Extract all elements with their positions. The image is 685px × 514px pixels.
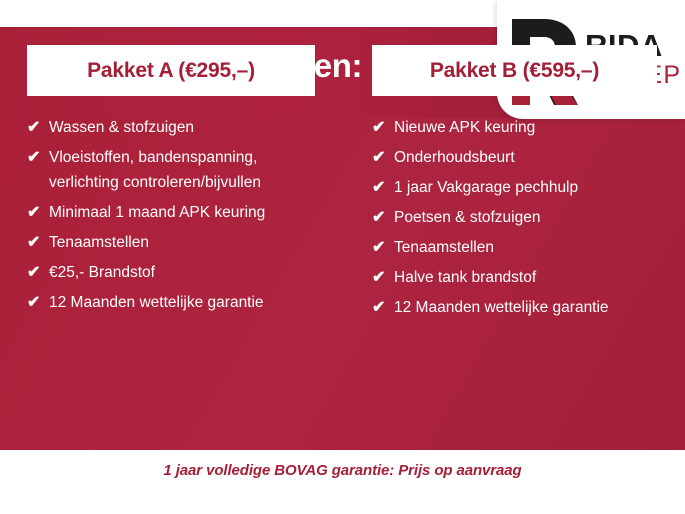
list-item: ✔ Nieuwe APK keuring	[372, 115, 657, 140]
footer-guarantee-text: 1 jaar volledige BOVAG garantie: Prijs o…	[163, 462, 521, 479]
list-item: ✔ Poetsen & stofzuigen	[372, 205, 657, 230]
list-item-label: 12 Maanden wettelijke garantie	[394, 295, 657, 320]
check-icon: ✔	[372, 205, 394, 230]
package-a-header: Pakket A (€295,–)	[27, 45, 315, 96]
list-item: ✔ 12 Maanden wettelijke garantie	[372, 295, 657, 320]
list-item: ✔ Vloeistoffen, bandenspanning, verlicht…	[27, 145, 315, 195]
list-item-label: Minimaal 1 maand APK keuring	[49, 200, 315, 225]
footer-banner: 1 jaar volledige BOVAG garantie: Prijs o…	[0, 450, 685, 514]
list-item-label: Halve tank brandstof	[394, 265, 657, 290]
afleverpakket-poster: Afleverpakket kiezen: RIDA GROEP Pakket …	[0, 0, 685, 514]
package-a-title: Pakket A (€295,–)	[87, 59, 255, 83]
list-item: ✔ €25,- Brandstof	[27, 260, 315, 285]
check-icon: ✔	[27, 145, 49, 170]
check-icon: ✔	[27, 200, 49, 225]
list-item: ✔ Wassen & stofzuigen	[27, 115, 315, 140]
check-icon: ✔	[372, 115, 394, 140]
list-item-label: Nieuwe APK keuring	[394, 115, 657, 140]
package-card-a: Pakket A (€295,–) ✔ Wassen & stofzuigen …	[27, 45, 315, 320]
list-item-label: 12 Maanden wettelijke garantie	[49, 290, 315, 315]
check-icon: ✔	[27, 260, 49, 285]
list-item-label: Tenaamstellen	[394, 235, 657, 260]
check-icon: ✔	[27, 290, 49, 315]
package-b-header: Pakket B (€595,–)	[372, 45, 657, 96]
list-item-label: Tenaamstellen	[49, 230, 315, 255]
list-item-label: Vloeistoffen, bandenspanning, verlichtin…	[49, 145, 315, 195]
list-item-label: €25,- Brandstof	[49, 260, 315, 285]
list-item: ✔ Halve tank brandstof	[372, 265, 657, 290]
check-icon: ✔	[372, 175, 394, 200]
list-item: ✔ 12 Maanden wettelijke garantie	[27, 290, 315, 315]
list-item: ✔ Minimaal 1 maand APK keuring	[27, 200, 315, 225]
package-b-feature-list: ✔ Nieuwe APK keuring ✔ Onderhoudsbeurt ✔…	[372, 96, 657, 320]
list-item: ✔ Tenaamstellen	[372, 235, 657, 260]
list-item: ✔ Onderhoudsbeurt	[372, 145, 657, 170]
check-icon: ✔	[372, 295, 394, 320]
package-a-feature-list: ✔ Wassen & stofzuigen ✔ Vloeistoffen, ba…	[27, 96, 315, 315]
list-item-label: Onderhoudsbeurt	[394, 145, 657, 170]
list-item-label: Wassen & stofzuigen	[49, 115, 315, 140]
list-item: ✔ 1 jaar Vakgarage pechhulp	[372, 175, 657, 200]
list-item: ✔ Tenaamstellen	[27, 230, 315, 255]
list-item-label: 1 jaar Vakgarage pechhulp	[394, 175, 657, 200]
check-icon: ✔	[27, 230, 49, 255]
package-b-title: Pakket B (€595,–)	[430, 59, 599, 83]
list-item-label: Poetsen & stofzuigen	[394, 205, 657, 230]
package-card-b: Pakket B (€595,–) ✔ Nieuwe APK keuring ✔…	[372, 45, 657, 325]
check-icon: ✔	[372, 265, 394, 290]
check-icon: ✔	[27, 115, 49, 140]
check-icon: ✔	[372, 235, 394, 260]
check-icon: ✔	[372, 145, 394, 170]
